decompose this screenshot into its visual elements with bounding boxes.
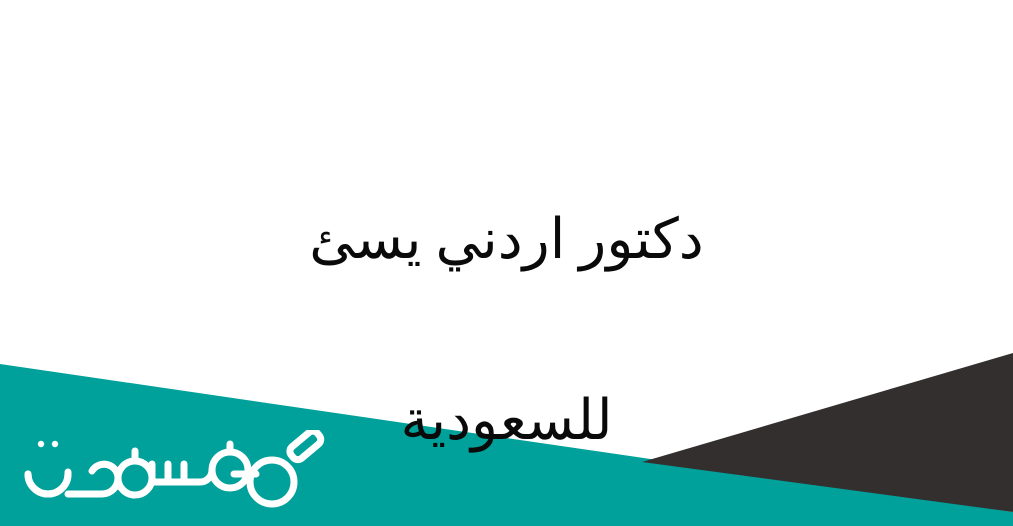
logo-glyph-waw-2: [212, 452, 248, 488]
logo-dot-left: [38, 441, 44, 447]
poster-canvas: دكتور اردني يسئ للسعودية: [0, 0, 1013, 526]
logo-glyph-ain: [68, 464, 118, 494]
magnifier-handle-icon: [287, 430, 323, 462]
brand-logo: [16, 430, 336, 516]
headline-line-1: دكتور اردني يسئ: [0, 195, 1013, 286]
logo-glyph-waw-1: [118, 461, 152, 495]
magnifier-meem-icon: [250, 460, 294, 504]
logo-dot-right: [52, 441, 58, 447]
brand-logo-artwork: [16, 430, 336, 516]
